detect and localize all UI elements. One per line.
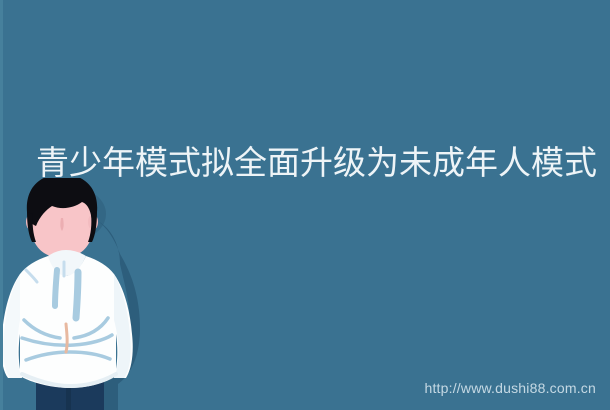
drawstring-right — [76, 272, 78, 318]
teenager-illustration — [0, 178, 150, 410]
poster-canvas: 青少年模式拟全面升级为未成年人模式 http://www.dushi88.com… — [0, 0, 610, 410]
headline-text: 青少年模式拟全面升级为未成年人模式 — [36, 142, 576, 184]
left-edge-strip — [0, 0, 3, 410]
drawstring-left — [55, 270, 57, 306]
hand — [66, 324, 67, 352]
hoodie — [1, 250, 133, 388]
site-watermark: http://www.dushi88.com.cn — [424, 380, 596, 396]
